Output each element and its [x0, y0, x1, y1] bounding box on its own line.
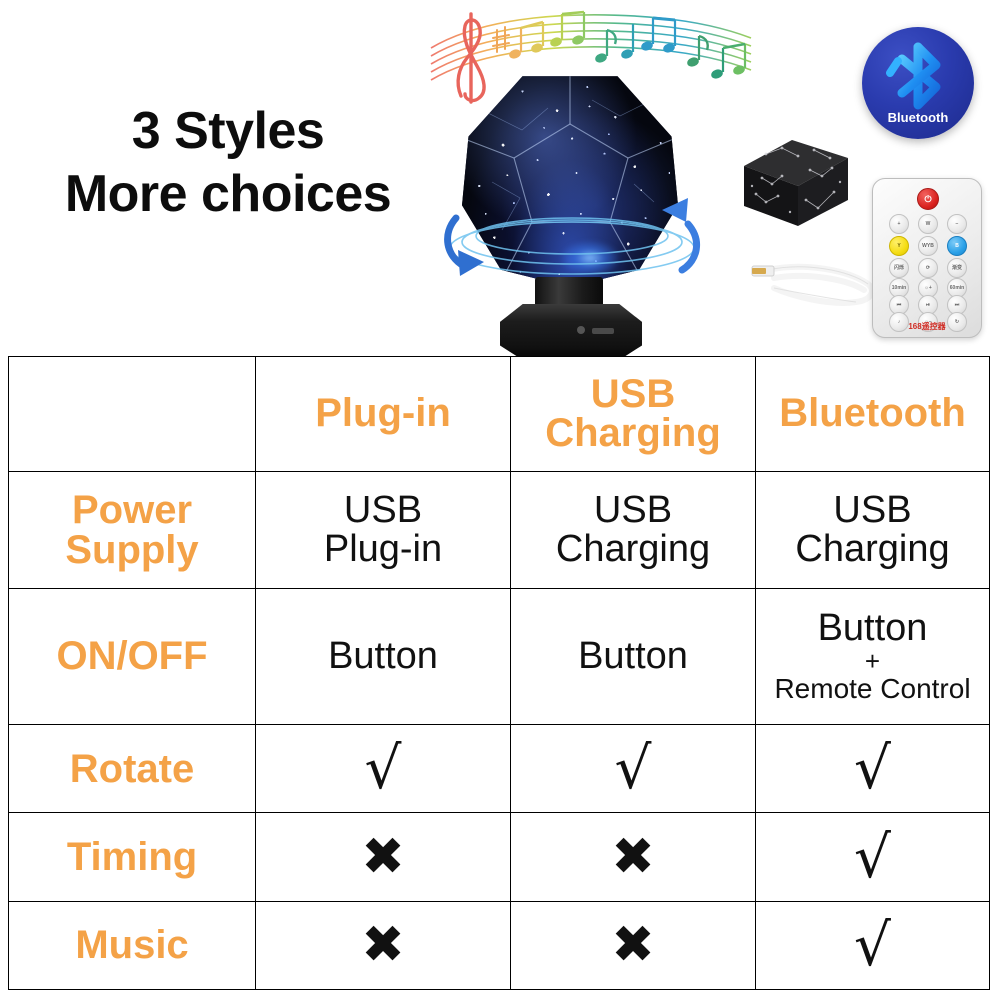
table-header-bluetooth: Bluetooth — [756, 357, 990, 472]
remote-plus-button[interactable]: + — [889, 214, 909, 234]
row-label-rotate: Rotate — [9, 725, 256, 813]
row-label-power-supply: PowerSupply — [9, 471, 256, 588]
table-row: ON/OFFButtonButtonButton+Remote Control — [9, 588, 990, 725]
bluetooth-badge-label: Bluetooth — [862, 110, 974, 125]
hero-banner: 3 Styles More choices — [0, 0, 1000, 356]
page-title: 3 Styles More choices — [28, 100, 428, 227]
power-button-on-base[interactable] — [577, 326, 585, 334]
bluetooth-badge: Bluetooth — [862, 27, 974, 139]
row-label-on-off: ON/OFF — [9, 588, 256, 725]
headline-line-2: More choices — [28, 163, 428, 226]
table-row: Music✖✖√ — [9, 901, 990, 989]
cell-supported-check: √ — [256, 725, 511, 813]
cell-value: USBCharging — [511, 471, 756, 588]
cell-value: USBCharging — [756, 471, 990, 588]
cell-supported-check: √ — [756, 901, 990, 989]
cell-supported-check: √ — [756, 813, 990, 901]
usb-cable — [744, 248, 879, 318]
cell-value: USBPlug-in — [256, 471, 511, 588]
cell-unsupported-cross: ✖ — [256, 901, 511, 989]
cell-supported-check: √ — [756, 725, 990, 813]
table-row: Timing✖✖√ — [9, 813, 990, 901]
remote-minus-button[interactable]: − — [947, 214, 967, 234]
remote-b-button[interactable]: B — [947, 236, 967, 256]
cell-unsupported-cross: ✖ — [256, 813, 511, 901]
rotation-arrows-icon — [440, 190, 705, 300]
star-projector-lamp — [440, 72, 705, 357]
table-row: Rotate√√√ — [9, 725, 990, 813]
cell-value: Button — [256, 588, 511, 725]
table-header-plug-in: Plug-in — [256, 357, 511, 472]
row-label-timing: Timing — [9, 813, 256, 901]
remote-w-button[interactable]: W — [918, 214, 938, 234]
lamp-base — [500, 304, 642, 360]
cell-supported-check: √ — [511, 725, 756, 813]
remote-power-button[interactable]: ⏻ — [917, 188, 939, 210]
cell-value: Button+Remote Control — [756, 588, 990, 725]
cell-unsupported-cross: ✖ — [511, 901, 756, 989]
cell-value: Button — [511, 588, 756, 725]
remote-wyb-button[interactable]: WYB — [918, 236, 938, 256]
remote-y-button[interactable]: Y — [889, 236, 909, 256]
row-label-music: Music — [9, 901, 256, 989]
table-header-row: Plug-inUSBChargingBluetooth — [9, 357, 990, 472]
usb-port-on-base — [592, 328, 614, 334]
remote-flash-button[interactable]: 闪烁 — [889, 258, 909, 278]
remote-model-label: 168遥控器 — [873, 321, 981, 332]
remote-fade-button[interactable]: 渐变 — [947, 258, 967, 278]
table-header-usb-charging: USBCharging — [511, 357, 756, 472]
remote-control[interactable]: ⏻ + W − Y WYB B 闪烁 ⟳ 渐变 10min ☼+ 60min ⏮… — [872, 178, 982, 338]
constellation-gift-box — [736, 126, 856, 236]
remote-rotate-button[interactable]: ⟳ — [918, 258, 938, 278]
table-row: PowerSupplyUSBPlug-inUSBChargingUSBCharg… — [9, 471, 990, 588]
table-corner-cell — [9, 357, 256, 472]
comparison-table: Plug-inUSBChargingBluetoothPowerSupplyUS… — [8, 356, 990, 990]
cell-unsupported-cross: ✖ — [511, 813, 756, 901]
headline-line-1: 3 Styles — [28, 100, 428, 163]
